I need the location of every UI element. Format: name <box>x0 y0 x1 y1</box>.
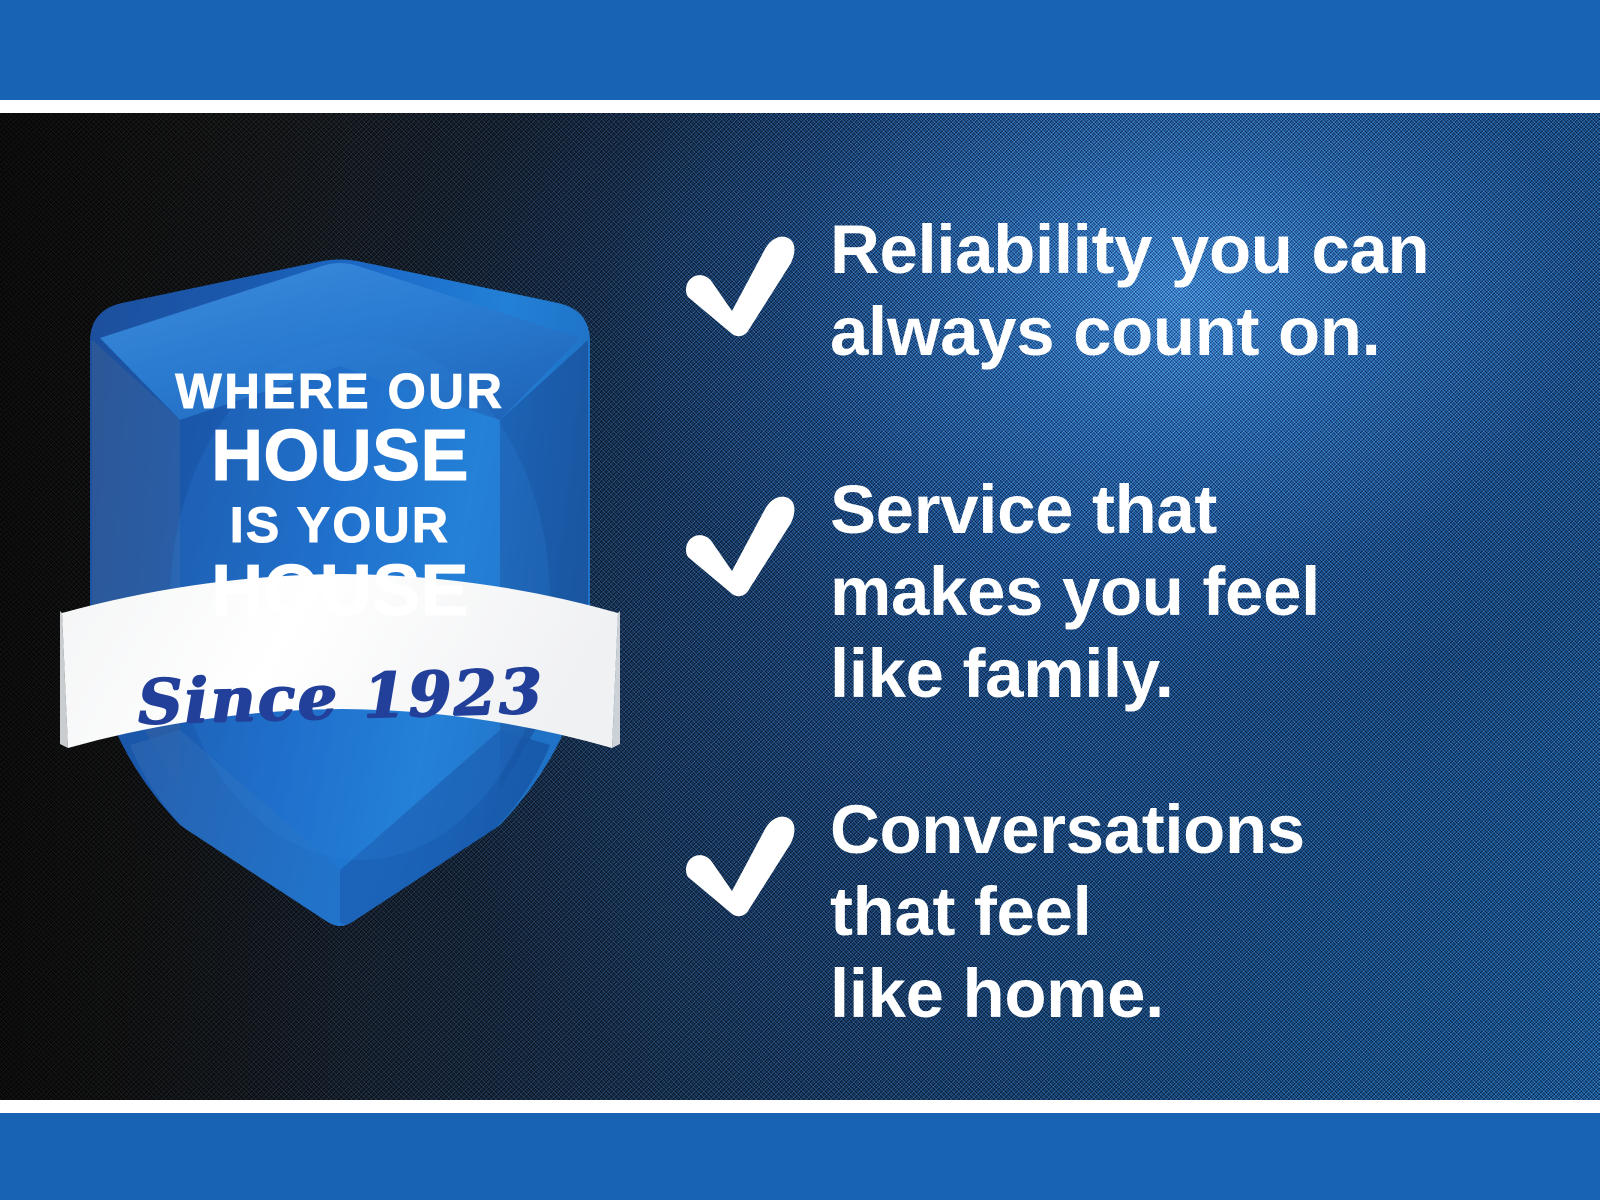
shield-badge: Where our House is your House Since 1923 <box>60 170 620 950</box>
benefit-item: Service that makes you feel like family. <box>660 475 1540 715</box>
benefits-list: Reliability you can always count on. Ser… <box>660 113 1540 1100</box>
top-brand-bar <box>0 0 1600 100</box>
benefit-text: Conversations that feel like home. <box>830 789 1540 1035</box>
checkmark-icon <box>660 479 800 597</box>
benefit-item: Conversations that feel like home. <box>660 795 1540 1035</box>
benefit-item: Reliability you can always count on. <box>660 215 1540 373</box>
promo-graphic: Where our House is your House Since 1923… <box>0 0 1600 1200</box>
checkmark-icon <box>660 219 800 337</box>
top-white-divider <box>0 100 1600 113</box>
checkmark-icon <box>660 799 800 917</box>
shield-icon <box>60 170 620 950</box>
benefit-text: Service that makes you feel like family. <box>830 469 1540 715</box>
bottom-brand-bar <box>0 1113 1600 1200</box>
benefit-text: Reliability you can always count on. <box>830 209 1540 373</box>
bottom-white-divider <box>0 1100 1600 1113</box>
